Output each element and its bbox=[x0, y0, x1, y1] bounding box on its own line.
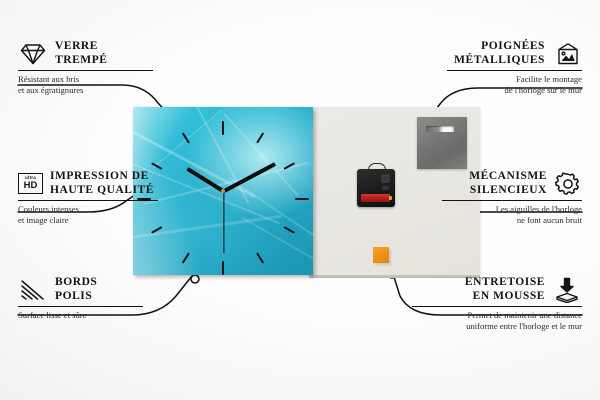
hanger-slot bbox=[426, 126, 454, 132]
callout-rule bbox=[18, 200, 158, 201]
tick-1 bbox=[256, 132, 264, 143]
tick-5 bbox=[256, 252, 264, 263]
callout-rule bbox=[412, 306, 582, 307]
callout-description: Couleurs intenses et image claire bbox=[18, 204, 158, 225]
metal-hanger-plate bbox=[417, 117, 467, 169]
ultra-hd-icon: ultra HD bbox=[18, 173, 43, 194]
infographic-canvas: VERRE TREMPÉ Résistant aux bris et aux é… bbox=[0, 0, 600, 400]
callout-rule bbox=[18, 70, 153, 71]
tick-6 bbox=[222, 261, 224, 275]
callout-bords-polis: BORDS POLIS Surface lisse et sûre bbox=[18, 276, 143, 321]
callout-impression-haute-qualite: ultra HD IMPRESSION DE HAUTE QUALITÉ Cou… bbox=[18, 170, 158, 225]
callout-title: BORDS POLIS bbox=[55, 276, 97, 303]
callout-verre-trempe: VERRE TREMPÉ Résistant aux bris et aux é… bbox=[18, 40, 153, 95]
battery bbox=[361, 194, 390, 202]
tick-7 bbox=[182, 252, 190, 263]
callout-description: Surface lisse et sûre bbox=[18, 310, 143, 321]
mechanism-cap-small bbox=[382, 186, 389, 190]
hanger-loop-icon bbox=[368, 163, 386, 172]
callout-description: Résistant aux bris et aux égratignures bbox=[18, 74, 153, 95]
ultra-hd-main-label: HD bbox=[24, 181, 38, 191]
callout-rule bbox=[447, 70, 582, 71]
foam-spacer bbox=[373, 247, 389, 263]
polished-edges-icon bbox=[18, 278, 48, 302]
callout-poignees-metalliques: POIGNÉES MÉTALLIQUES Facilite le montage… bbox=[447, 40, 582, 95]
hand-hub bbox=[221, 189, 225, 193]
callout-entretoise-en-mousse: ENTRETOISE EN MOUSSE Permet de maintenir… bbox=[412, 276, 582, 331]
diamond-icon bbox=[18, 42, 48, 66]
callout-rule bbox=[442, 200, 582, 201]
callout-mecanisme-silencieux: MÉCANISME SILENCIEUX Les aiguilles de l'… bbox=[442, 170, 582, 225]
callout-title: ENTRETOISE EN MOUSSE bbox=[465, 276, 545, 303]
second-hand bbox=[223, 191, 224, 253]
callout-title: VERRE TREMPÉ bbox=[55, 40, 108, 67]
callout-title: POIGNÉES MÉTALLIQUES bbox=[454, 40, 545, 67]
foam-spacer-icon bbox=[552, 277, 582, 303]
product-photo bbox=[133, 107, 480, 275]
clock-mechanism bbox=[357, 169, 395, 207]
tick-3 bbox=[295, 198, 309, 200]
callout-description: Les aiguilles de l'horloge ne font aucun… bbox=[442, 204, 582, 225]
tick-4 bbox=[284, 226, 295, 234]
callout-description: Facilite le montage de l'horloge sur le … bbox=[447, 74, 582, 95]
callout-title: IMPRESSION DE HAUTE QUALITÉ bbox=[50, 170, 154, 197]
leader-dot-bords-polis bbox=[191, 275, 199, 283]
wall-hanger-icon bbox=[552, 42, 582, 66]
tick-12 bbox=[222, 121, 224, 135]
callout-rule bbox=[18, 306, 143, 307]
gear-icon bbox=[554, 171, 582, 197]
clock-face bbox=[133, 107, 313, 275]
callout-description: Permet de maintenir une distance uniform… bbox=[412, 310, 582, 331]
mechanism-cap bbox=[381, 174, 390, 183]
callout-title: MÉCANISME SILENCIEUX bbox=[469, 170, 547, 197]
